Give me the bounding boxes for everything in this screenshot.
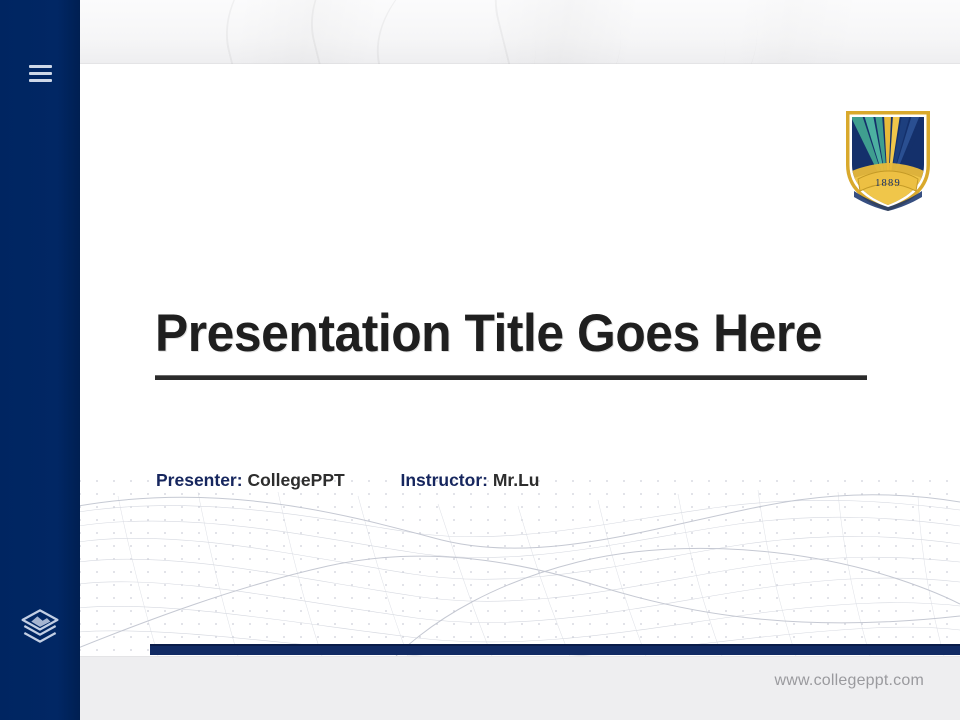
decorative-shading <box>80 0 960 64</box>
title-block: Presentation Title Goes Here <box>155 306 867 380</box>
sidebar-item-menu[interactable] <box>0 58 80 88</box>
backdrop-top <box>80 0 960 64</box>
slide-canvas: 1889 Presentation Title Goes Here Presen… <box>78 64 960 656</box>
footer-url[interactable]: www.collegeppt.com <box>775 672 924 690</box>
presentation-viewer: 1889 Presentation Title Goes Here Presen… <box>0 0 960 720</box>
wireframe-terrain-graphic <box>78 466 960 656</box>
presenter-value: CollegePPT <box>247 470 344 490</box>
hamburger-menu-icon[interactable] <box>29 65 52 82</box>
title-divider <box>155 375 867 380</box>
university-crest-icon: 1889 <box>842 107 934 211</box>
instructor-label: Instructor: <box>400 470 488 490</box>
sidebar <box>0 0 80 720</box>
byline: Presenter: CollegePPT Instructor: Mr.Lu <box>156 470 540 491</box>
svg-text:1889: 1889 <box>875 178 901 189</box>
page-title: Presentation Title Goes Here <box>155 306 824 362</box>
slide-bottom-bar <box>150 644 960 655</box>
layers-stack-icon[interactable] <box>19 606 61 646</box>
sidebar-item-layers[interactable] <box>0 598 80 654</box>
instructor-value: Mr.Lu <box>493 470 540 490</box>
presenter-label: Presenter: <box>156 470 243 490</box>
